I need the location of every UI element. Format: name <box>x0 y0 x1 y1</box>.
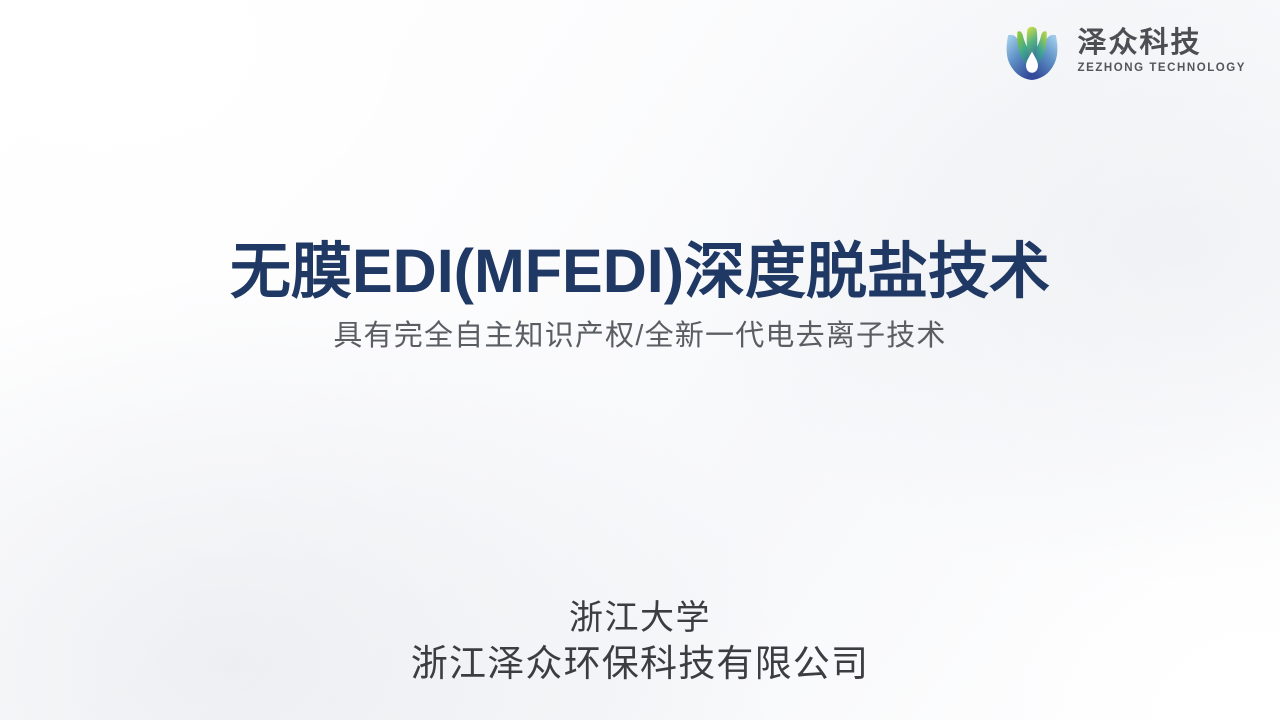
organization-name-primary: 浙江大学 <box>0 598 1280 638</box>
page-title: 无膜EDI(MFEDI)深度脱盐技术 <box>0 237 1280 305</box>
title-slide: 泽众科技 ZEZHONG TECHNOLOGY 无膜EDI(MFEDI)深度脱盐… <box>0 0 1280 720</box>
logo-company-name-cn: 泽众科技 <box>1078 28 1202 59</box>
organization-name-secondary: 浙江泽众环保科技有限公司 <box>0 642 1280 686</box>
brand-logo[interactable]: 泽众科技 ZEZHONG TECHNOLOGY <box>999 18 1246 84</box>
logo-wordmark: 泽众科技 ZEZHONG TECHNOLOGY <box>1078 28 1246 74</box>
lotus-droplet-logo-icon <box>999 18 1065 84</box>
headline-group: 无膜EDI(MFEDI)深度脱盐技术 具有完全自主知识产权/全新一代电去离子技术 <box>0 237 1280 354</box>
logo-company-name-en: ZEZHONG TECHNOLOGY <box>1078 62 1246 75</box>
page-subtitle: 具有完全自主知识产权/全新一代电去离子技术 <box>0 319 1280 354</box>
affiliation-group: 浙江大学 浙江泽众环保科技有限公司 <box>0 598 1280 686</box>
